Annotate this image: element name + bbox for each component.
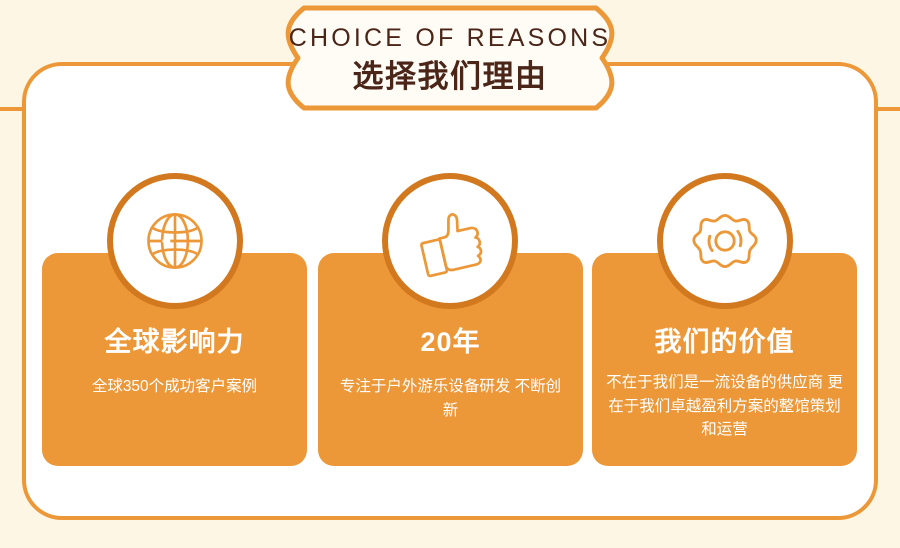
- feature-card-description: 全球350个成功客户案例: [58, 375, 291, 399]
- feature-card-description: 专注于户外游乐设备研发 不断创新: [334, 375, 567, 422]
- section-title-english: CHOICE OF REASONS: [289, 26, 612, 51]
- feature-card-title: 全球影响力: [42, 329, 307, 356]
- thumbs-up-icon-badge: [382, 173, 518, 309]
- feature-card-description: 不在于我们是一流设备的供应商 更在于我们卓越盈利方案的整馆策划和运营: [604, 371, 845, 442]
- thumbs-up-icon: [410, 201, 490, 281]
- section-title-chinese: 选择我们理由: [353, 61, 548, 92]
- promo-banner-section: CHOICE OF REASONS 选择我们理由 全球影响力 全球350个成功客…: [0, 0, 900, 548]
- section-header-ribbon: CHOICE OF REASONS 选择我们理由: [262, 4, 638, 112]
- feature-card-title: 20年: [318, 329, 583, 356]
- gear-icon: [685, 201, 765, 281]
- gear-icon-badge: [657, 173, 793, 309]
- feature-card-title: 我们的价值: [592, 329, 857, 356]
- globe-icon-badge: [107, 173, 243, 309]
- globe-icon: [136, 202, 214, 280]
